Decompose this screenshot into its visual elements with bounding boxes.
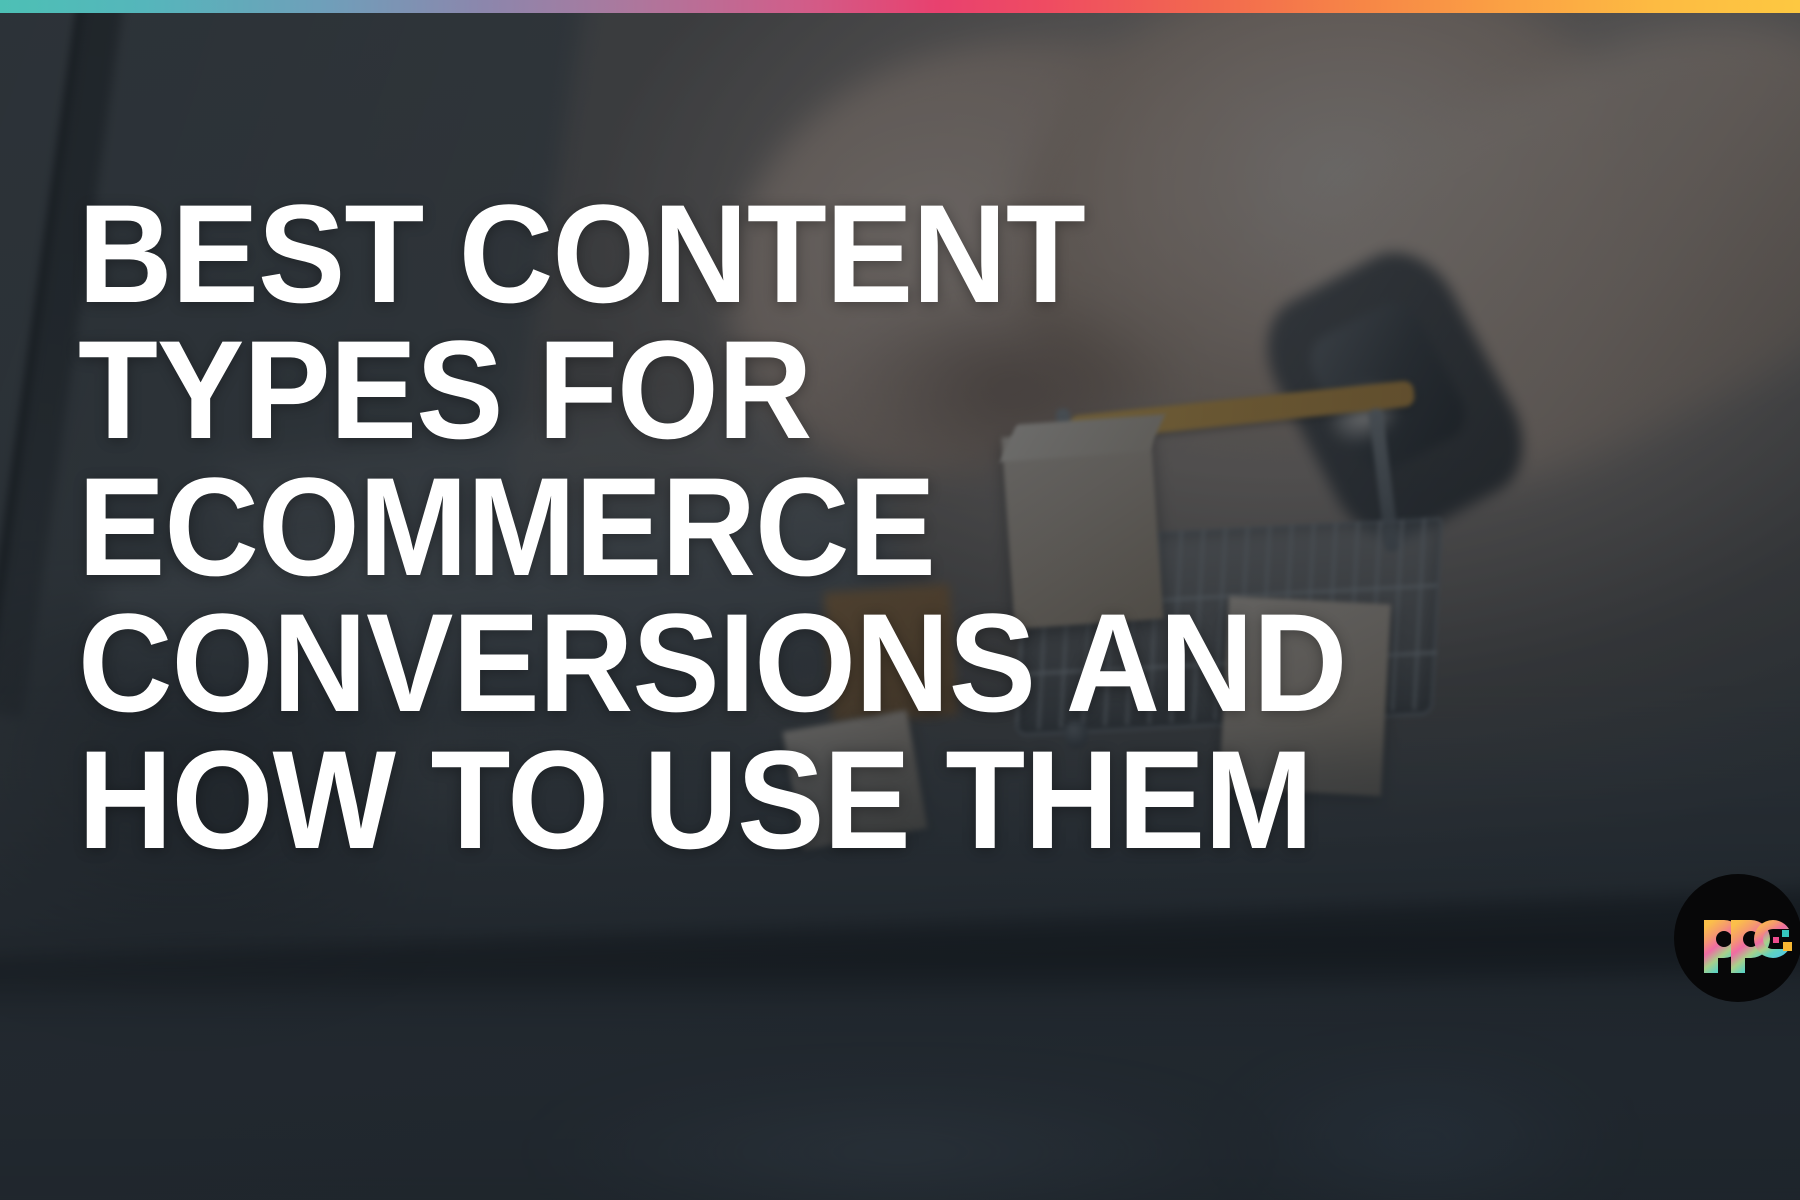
logo-pixel-pink xyxy=(1773,937,1779,943)
pp-logo[interactable] xyxy=(1674,874,1800,1002)
logo-pixel-yellow xyxy=(1783,942,1792,951)
logo-pixel-teal xyxy=(1782,930,1789,937)
headline-line-3: ECOMMERCE xyxy=(78,459,1331,596)
headline-line-4: CONVERSIONS AND xyxy=(78,595,1331,732)
page-title: BEST CONTENT TYPES FOR ECOMMERCE CONVERS… xyxy=(78,186,1331,869)
poster-canvas: BEST CONTENT TYPES FOR ECOMMERCE CONVERS… xyxy=(0,0,1800,1200)
headline-line-5: HOW TO USE THEM xyxy=(78,732,1331,869)
headline-line-2: TYPES FOR xyxy=(78,322,1331,459)
headline-line-1: BEST CONTENT xyxy=(78,186,1331,323)
top-gradient-bar xyxy=(0,0,1800,13)
logo-mark-icon xyxy=(1674,874,1800,1002)
